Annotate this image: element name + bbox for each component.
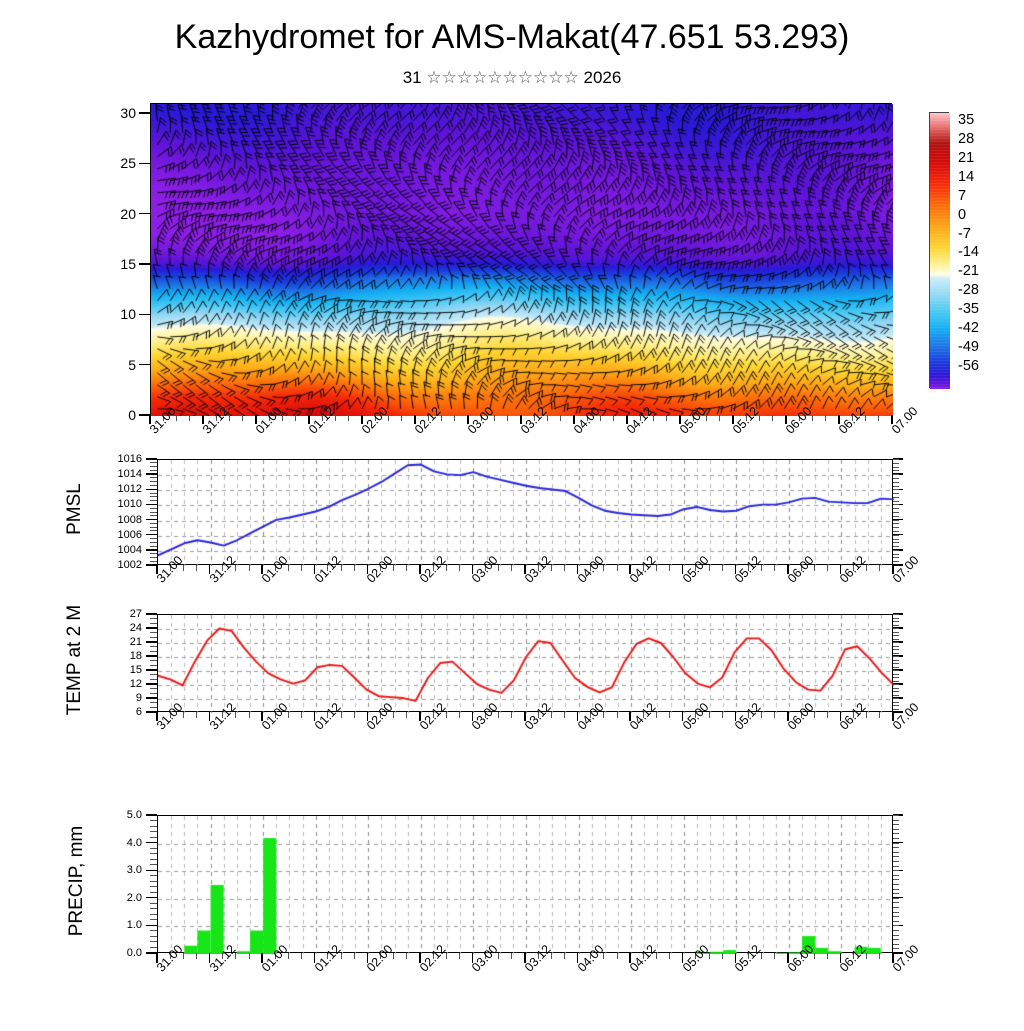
x-tick-minor <box>459 565 460 571</box>
x-tick-minor <box>761 712 762 718</box>
y-tick-minor <box>150 820 157 821</box>
y-tick-minor <box>150 679 157 680</box>
x-tick-minor <box>242 415 243 421</box>
y-tick-right-minor <box>893 550 899 551</box>
y-tick-right <box>893 711 903 712</box>
x-tick-minor <box>459 953 460 959</box>
colorbar-tick-label: 14 <box>958 169 974 185</box>
y-tick-minor <box>150 538 157 539</box>
x-tick-minor <box>827 712 828 718</box>
y-tick-right-minor <box>893 893 899 894</box>
x-tick-minor <box>341 712 342 718</box>
y-tick-minor <box>150 864 157 865</box>
y-tick-right-minor <box>893 535 899 536</box>
y-tick-right-minor <box>893 520 899 521</box>
weather-forecast-figure: Kazhydromet for AMS-Makat(47.651 53.293)… <box>0 0 1024 1024</box>
y-tick-right-minor <box>893 459 899 460</box>
y-tick-major <box>146 613 157 614</box>
x-tick-minor <box>183 565 184 571</box>
x-tick-minor <box>511 712 512 718</box>
y-tick-right-minor <box>893 467 899 468</box>
y-tick-right-minor <box>893 501 899 502</box>
y-tick-right-minor <box>893 889 899 890</box>
x-tick-minor <box>196 953 197 959</box>
colorbar-tick-label: -49 <box>958 339 979 355</box>
x-tick-minor <box>669 712 670 718</box>
x-tick-minor <box>560 415 561 421</box>
y-tick-right-minor <box>893 912 899 913</box>
y-tick-minor <box>150 936 157 937</box>
y-tick-right-minor <box>893 829 899 830</box>
x-tick-minor <box>666 415 667 421</box>
colorbar-tick-label: -42 <box>958 320 979 336</box>
y-tick-minor <box>150 481 157 482</box>
x-tick-minor <box>393 565 394 571</box>
y-axis-label: 4.0 <box>87 837 142 849</box>
y-tick-major <box>146 458 157 459</box>
y-tick-major <box>146 669 157 670</box>
y-tick-minor <box>150 646 157 647</box>
x-tick-minor <box>354 565 355 571</box>
y-tick-right-minor <box>893 561 899 562</box>
y-tick-right-minor <box>893 632 899 633</box>
colorbar-tick-label: -56 <box>958 358 979 374</box>
y-tick-right-minor <box>893 866 899 867</box>
y-tick-minor <box>150 632 157 633</box>
pmsl-line-canvas <box>158 460 894 566</box>
y-tick-right-minor <box>893 523 899 524</box>
temp-line-canvas <box>158 615 894 713</box>
y-axis-label: 30 <box>80 105 136 121</box>
y-tick-right-minor <box>893 939 899 940</box>
y-tick-right-minor <box>893 688 899 689</box>
x-tick-minor <box>617 712 618 718</box>
y-tick-right-minor <box>893 852 899 853</box>
x-tick-minor <box>878 415 879 421</box>
subtitle-date: 31 ☆☆☆☆☆☆☆☆☆☆ 2026 <box>0 68 1024 88</box>
y-tick-minor <box>150 892 157 893</box>
x-tick-minor <box>446 712 447 718</box>
y-tick-right-minor <box>893 935 899 936</box>
y-tick-right-minor <box>893 642 899 643</box>
y-tick-right-minor <box>893 695 899 696</box>
y-tick-major <box>139 213 150 214</box>
x-tick-minor <box>189 415 190 421</box>
colorbar-gradient <box>930 113 950 389</box>
x-tick-minor <box>879 565 880 571</box>
y-tick-right <box>893 564 903 565</box>
y-tick-right-minor <box>893 847 899 848</box>
y-tick-minor <box>150 903 157 904</box>
y-tick-right-minor <box>893 474 899 475</box>
y-tick-right-minor <box>893 902 899 903</box>
colorbar-tick-label: -21 <box>958 263 979 279</box>
y-tick-right-minor <box>893 930 899 931</box>
y-tick-minor <box>150 462 157 463</box>
y-tick-minor <box>150 941 157 942</box>
x-tick-minor <box>879 712 880 718</box>
x-tick-minor <box>656 565 657 571</box>
x-tick-minor <box>459 712 460 718</box>
x-tick-minor <box>774 712 775 718</box>
x-tick-minor <box>722 565 723 571</box>
y-tick-right-minor <box>893 856 899 857</box>
y-tick-major <box>139 163 150 164</box>
x-tick-minor <box>249 565 250 571</box>
x-tick-minor <box>354 712 355 718</box>
x-tick-minor <box>183 712 184 718</box>
x-tick-minor <box>866 565 867 571</box>
y-tick-right-minor <box>893 656 899 657</box>
y-axis-label: 1006 <box>87 529 142 541</box>
y-tick-major <box>146 519 157 520</box>
x-tick-minor <box>709 565 710 571</box>
y-tick-right-minor <box>893 815 899 816</box>
y-tick-right-minor <box>893 670 899 671</box>
y-tick-right-minor <box>893 628 899 629</box>
y-tick-right-minor <box>893 625 899 626</box>
x-tick-minor <box>617 953 618 959</box>
x-tick-minor <box>772 415 773 421</box>
subtitle-day: 31 <box>403 68 422 87</box>
y-tick-major <box>146 534 157 535</box>
y-tick-major <box>146 697 157 698</box>
y-tick-minor <box>150 859 157 860</box>
y-axis-label: 15 <box>80 256 136 272</box>
y-tick-minor <box>150 848 157 849</box>
y-tick-right <box>893 952 903 953</box>
y-tick-minor <box>150 561 157 562</box>
x-tick-minor <box>564 712 565 718</box>
colorbar-tick-label: 35 <box>958 112 974 128</box>
y-tick-right-minor <box>893 898 899 899</box>
y-tick-major <box>146 504 157 505</box>
colorbar-tick-label: 28 <box>958 131 974 147</box>
y-axis-label: 24 <box>87 622 142 634</box>
y-tick-right-minor <box>893 838 899 839</box>
y-tick-major <box>139 112 150 113</box>
y-tick-right-minor <box>893 879 899 880</box>
y-tick-minor <box>150 530 157 531</box>
y-axis-label: 2.0 <box>87 892 142 904</box>
y-tick-minor <box>150 618 157 619</box>
x-tick-minor <box>301 953 302 959</box>
x-tick-minor <box>196 712 197 718</box>
y-tick-right-minor <box>893 925 899 926</box>
y-tick-major <box>146 473 157 474</box>
y-tick-minor <box>150 947 157 948</box>
page-title: Kazhydromet for AMS-Makat(47.651 53.293) <box>0 18 1024 57</box>
x-tick-minor <box>341 565 342 571</box>
y-tick-minor <box>150 553 157 554</box>
y-tick-major <box>146 655 157 656</box>
y-tick-minor <box>150 485 157 486</box>
y-tick-right-minor <box>893 546 899 547</box>
pmsl-plot-area <box>157 459 893 565</box>
x-tick-minor <box>827 565 828 571</box>
x-tick-minor <box>498 712 499 718</box>
y-tick-minor <box>150 637 157 638</box>
x-tick-minor <box>564 953 565 959</box>
x-tick-minor <box>709 712 710 718</box>
y-tick-minor <box>150 908 157 909</box>
x-tick-minor <box>722 953 723 959</box>
x-tick-minor <box>617 565 618 571</box>
y-axis-label: 6 <box>87 706 142 718</box>
y-tick-right-minor <box>893 684 899 685</box>
y-tick-right-minor <box>893 698 899 699</box>
y-tick-right-minor <box>893 660 899 661</box>
x-tick-minor <box>551 712 552 718</box>
y-axis-label: 18 <box>87 650 142 662</box>
x-tick-minor <box>722 712 723 718</box>
y-tick-right-minor <box>893 621 899 622</box>
y-tick-right-minor <box>893 833 899 834</box>
x-axis-label: 07.00 <box>890 942 922 974</box>
y-axis-label: 27 <box>87 608 142 620</box>
y-tick-major <box>146 627 157 628</box>
y-tick-right-minor <box>893 614 899 615</box>
y-tick-right-minor <box>893 820 899 821</box>
y-tick-minor <box>150 831 157 832</box>
x-tick-minor <box>613 415 614 421</box>
precip-bar-canvas <box>158 816 894 954</box>
y-tick-right-minor <box>893 709 899 710</box>
y-tick-minor <box>150 881 157 882</box>
y-tick-right-minor <box>893 875 899 876</box>
y-tick-major <box>139 263 150 264</box>
y-tick-major <box>146 549 157 550</box>
y-tick-major <box>146 683 157 684</box>
temperature-heatmap-canvas <box>151 104 893 416</box>
precip-plot-area <box>157 815 893 953</box>
x-tick-minor <box>401 415 402 421</box>
y-axis-label: 10 <box>80 306 136 322</box>
y-tick-right-minor <box>893 497 899 498</box>
x-tick-minor <box>511 565 512 571</box>
y-tick-right-minor <box>893 618 899 619</box>
y-tick-right-minor <box>893 916 899 917</box>
y-tick-right-minor <box>893 486 899 487</box>
y-tick-right-minor <box>893 702 899 703</box>
x-tick-minor <box>406 565 407 571</box>
y-axis-label: 5 <box>80 357 136 373</box>
y-tick-major <box>146 489 157 490</box>
temperature-colorbar <box>929 112 949 388</box>
subtitle-year: 2026 <box>583 68 621 87</box>
y-tick-minor <box>150 660 157 661</box>
y-tick-right-minor <box>893 824 899 825</box>
y-tick-right-minor <box>893 649 899 650</box>
y-tick-right-minor <box>893 667 899 668</box>
x-tick-minor <box>814 712 815 718</box>
y-tick-major <box>146 897 157 898</box>
y-tick-major <box>146 842 157 843</box>
y-tick-right-minor <box>893 861 899 862</box>
y-tick-minor <box>150 702 157 703</box>
x-tick-minor <box>656 712 657 718</box>
y-axis-label: 0 <box>80 407 136 423</box>
y-axis-label: 1.0 <box>87 919 142 931</box>
y-tick-right-minor <box>893 527 899 528</box>
y-tick-right-minor <box>893 557 899 558</box>
y-tick-minor <box>150 853 157 854</box>
y-tick-minor <box>150 493 157 494</box>
y-tick-minor <box>150 914 157 915</box>
y-tick-minor <box>150 693 157 694</box>
y-tick-right-minor <box>893 482 899 483</box>
y-tick-right-minor <box>893 948 899 949</box>
colorbar-tick-label: 7 <box>958 188 966 204</box>
y-tick-minor <box>150 837 157 838</box>
y-axis-label: 15 <box>87 664 142 676</box>
y-tick-minor <box>150 623 157 624</box>
x-tick-minor <box>814 565 815 571</box>
y-axis-label: 0.0 <box>87 947 142 959</box>
y-tick-minor <box>150 826 157 827</box>
y-axis-label: 25 <box>80 155 136 171</box>
y-tick-right-minor <box>893 944 899 945</box>
y-tick-minor <box>150 523 157 524</box>
x-tick-minor <box>406 712 407 718</box>
x-tick-minor <box>564 565 565 571</box>
y-tick-right-minor <box>893 884 899 885</box>
y-tick-right-minor <box>893 516 899 517</box>
y-axis-label: 5.0 <box>87 809 142 821</box>
y-tick-minor <box>150 919 157 920</box>
y-tick-right-minor <box>893 508 899 509</box>
y-axis-label: 1012 <box>87 483 142 495</box>
y-tick-right-minor <box>893 489 899 490</box>
colorbar-tick-label: 0 <box>958 207 966 223</box>
y-tick-minor <box>150 500 157 501</box>
y-tick-minor <box>150 875 157 876</box>
y-tick-right-minor <box>893 646 899 647</box>
colorbar-tick-label: 21 <box>958 150 974 166</box>
x-tick-minor <box>288 565 289 571</box>
x-tick-minor <box>249 953 250 959</box>
y-axis-label: 1004 <box>87 544 142 556</box>
y-tick-minor <box>150 515 157 516</box>
y-axis-label: 20 <box>80 206 136 222</box>
x-tick-minor <box>301 565 302 571</box>
x-tick-minor <box>301 712 302 718</box>
y-axis-label: 1008 <box>87 514 142 526</box>
y-tick-right-minor <box>893 639 899 640</box>
y-axis-label: 21 <box>87 636 142 648</box>
y-tick-minor <box>150 508 157 509</box>
x-tick-minor <box>719 415 720 421</box>
y-tick-right-minor <box>893 635 899 636</box>
y-tick-minor <box>150 930 157 931</box>
y-tick-right-minor <box>893 843 899 844</box>
x-tick-minor <box>669 953 670 959</box>
y-tick-minor <box>150 470 157 471</box>
x-tick-minor <box>288 712 289 718</box>
x-tick-minor <box>393 712 394 718</box>
y-tick-right-minor <box>893 504 899 505</box>
y-tick-right-minor <box>893 512 899 513</box>
y-tick-right-minor <box>893 681 899 682</box>
y-tick-minor <box>150 557 157 558</box>
y-tick-minor <box>150 886 157 887</box>
y-tick-right-minor <box>893 478 899 479</box>
x-tick-minor <box>446 565 447 571</box>
x-tick-minor <box>498 565 499 571</box>
y-tick-minor <box>150 688 157 689</box>
x-axis-label: 07.00 <box>889 404 921 436</box>
y-tick-major <box>146 925 157 926</box>
y-tick-right-minor <box>893 463 899 464</box>
y-tick-minor <box>150 674 157 675</box>
y-tick-minor <box>150 527 157 528</box>
x-tick-minor <box>866 712 867 718</box>
y-tick-right-minor <box>893 705 899 706</box>
y-tick-right-minor <box>893 674 899 675</box>
y-tick-minor <box>150 665 157 666</box>
y-axis-label: 12 <box>87 678 142 690</box>
y-tick-right-minor <box>893 542 899 543</box>
y-tick-minor <box>150 542 157 543</box>
x-tick-minor <box>507 415 508 421</box>
x-tick-minor <box>761 565 762 571</box>
x-tick-minor <box>354 953 355 959</box>
x-tick-minor <box>774 565 775 571</box>
y-tick-right-minor <box>893 531 899 532</box>
y-tick-right-minor <box>893 539 899 540</box>
colorbar-tick-label: -35 <box>958 301 979 317</box>
colorbar-tick-label: -14 <box>958 244 979 260</box>
x-tick-minor <box>511 953 512 959</box>
y-axis-label: 9 <box>87 692 142 704</box>
y-tick-minor <box>150 651 157 652</box>
x-tick-minor <box>406 953 407 959</box>
y-axis-label: 1014 <box>87 468 142 480</box>
cross-section-plot-area <box>150 103 892 415</box>
temp-plot-area <box>157 614 893 712</box>
y-tick-major <box>146 814 157 815</box>
x-tick-minor <box>551 565 552 571</box>
y-tick-major <box>146 641 157 642</box>
x-tick-minor <box>825 415 826 421</box>
colorbar-tick-label: -28 <box>958 282 979 298</box>
x-tick-minor <box>196 565 197 571</box>
y-tick-major <box>139 314 150 315</box>
y-tick-major <box>146 870 157 871</box>
x-tick-minor <box>669 565 670 571</box>
y-axis-label: 1002 <box>87 559 142 571</box>
y-tick-right-minor <box>893 870 899 871</box>
subtitle-month-glyphs: ☆☆☆☆☆☆☆☆☆☆ <box>426 68 578 87</box>
y-axis-label: 1016 <box>87 453 142 465</box>
y-tick-right-minor <box>893 677 899 678</box>
y-tick-right-minor <box>893 653 899 654</box>
x-tick-minor <box>295 415 296 421</box>
y-tick-right-minor <box>893 691 899 692</box>
y-tick-minor <box>150 466 157 467</box>
x-tick-minor <box>774 953 775 959</box>
y-tick-minor <box>150 496 157 497</box>
y-tick-minor <box>150 546 157 547</box>
y-tick-right-minor <box>893 663 899 664</box>
y-tick-minor <box>150 707 157 708</box>
y-tick-right-minor <box>893 921 899 922</box>
y-tick-minor <box>150 512 157 513</box>
x-tick-minor <box>249 712 250 718</box>
y-tick-right-minor <box>893 470 899 471</box>
y-axis-label: 3.0 <box>87 864 142 876</box>
x-tick-minor <box>879 953 880 959</box>
